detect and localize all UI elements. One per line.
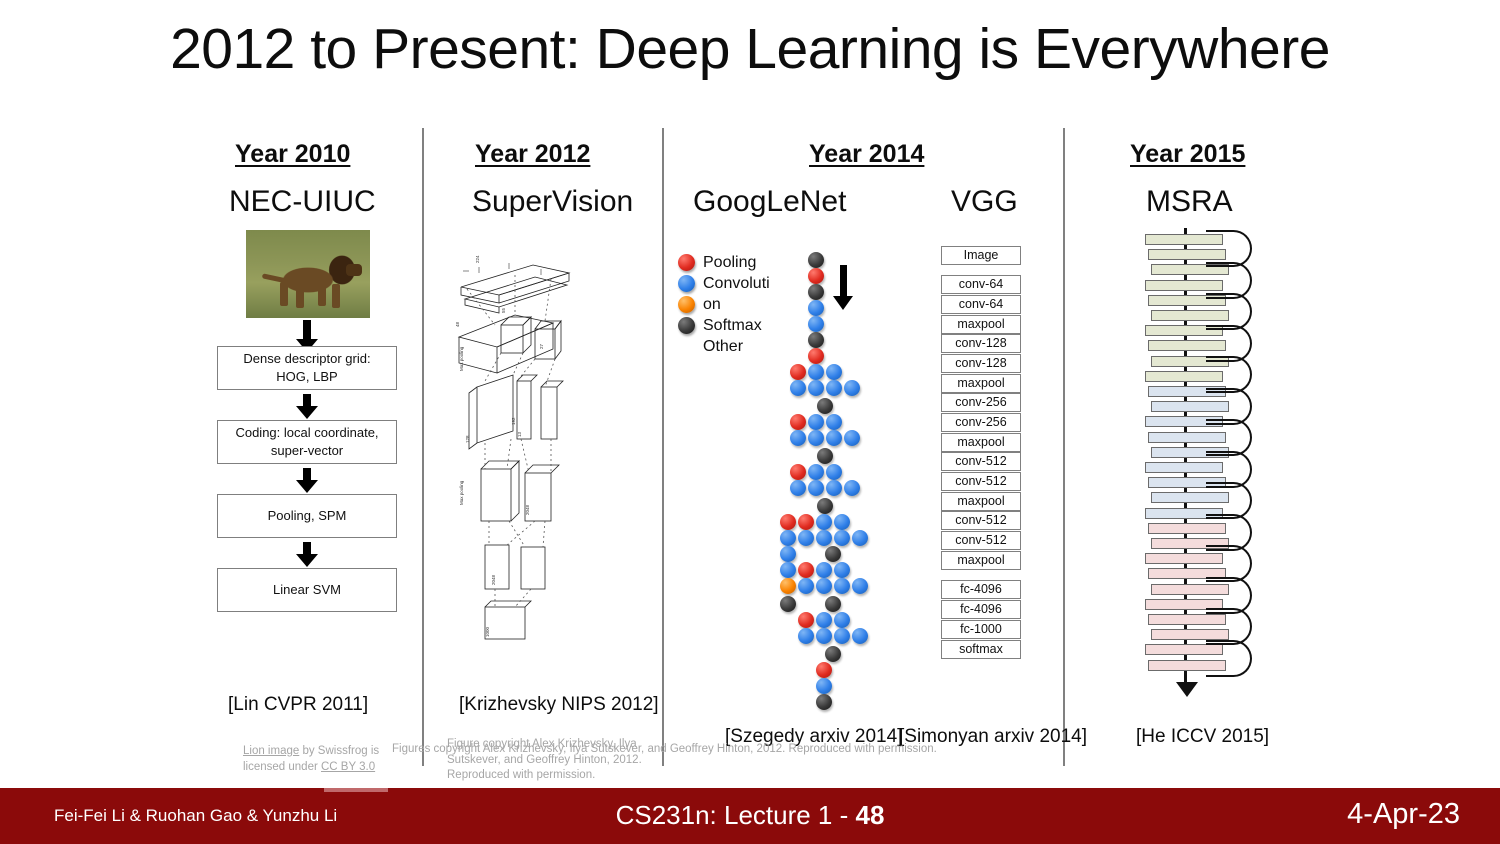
- googlenet-node: [808, 268, 824, 284]
- vgg-layer-box: conv-512: [941, 452, 1021, 471]
- googlenet-node: [780, 546, 796, 562]
- page-title: 2012 to Present: Deep Learning is Everyw…: [0, 16, 1500, 82]
- googlenet-node: [852, 628, 868, 644]
- vgg-layer-box: conv-128: [941, 334, 1021, 353]
- vgg-layer-box: maxpool: [941, 374, 1021, 393]
- googlenet-node: [826, 380, 842, 396]
- googlenet-node: [826, 430, 842, 446]
- column-network-name: GoogLeNet: [693, 185, 846, 219]
- googlenet-node: [780, 514, 796, 530]
- googlenet-node: [816, 562, 832, 578]
- googlenet-node: [808, 364, 824, 380]
- lion-image-credit-link[interactable]: Lion image: [243, 745, 299, 757]
- lion-photograph: [246, 230, 370, 318]
- googlenet-node: [808, 380, 824, 396]
- pipeline-box: Dense descriptor grid: HOG, LBP: [217, 346, 397, 390]
- flow-arrow: [303, 468, 311, 481]
- column-network-name: SuperVision: [472, 185, 633, 219]
- footer-lecture-label: CS231n: Lecture 1 -: [616, 800, 856, 830]
- svg-text:Max pooling: Max pooling: [459, 346, 464, 371]
- flow-arrow: [303, 320, 311, 340]
- vgg-layer-box: maxpool: [941, 492, 1021, 511]
- googlenet-node: [844, 480, 860, 496]
- slide-root: 2012 to Present: Deep Learning is Everyw…: [0, 0, 1500, 844]
- googlenet-node: [808, 332, 824, 348]
- googlenet-node: [816, 578, 832, 594]
- googlenet-node: [834, 514, 850, 530]
- vgg-layer-label: softmax: [959, 642, 1003, 656]
- vgg-layer-label: maxpool: [957, 376, 1004, 390]
- googlenet-node: [780, 596, 796, 612]
- vgg-layer-label: fc-1000: [960, 622, 1002, 636]
- googlenet-node: [798, 628, 814, 644]
- vgg-layer-box: fc-4096: [941, 600, 1021, 619]
- vgg-layer-box: conv-256: [941, 393, 1021, 412]
- legend-color-swatch-softmax: [678, 296, 695, 313]
- googlenet-node: [817, 498, 833, 514]
- vgg-layer-label: conv-512: [955, 454, 1006, 468]
- vgg-layer-label: conv-64: [959, 277, 1003, 291]
- pipeline-box: Coding: local coordinate, super-vector: [217, 420, 397, 464]
- googlenet-node: [808, 480, 824, 496]
- googlenet-node: [817, 448, 833, 464]
- footer-date: 4-Apr-23: [1347, 798, 1460, 831]
- vgg-layer-label: conv-512: [955, 513, 1006, 527]
- footer-page-number: 48: [856, 800, 885, 830]
- figures-copyright-block: Figure copyright Alex Krizhevsky, Ilya S…: [447, 737, 647, 784]
- svg-text:224: 224: [475, 255, 480, 263]
- googlenet-node: [808, 348, 824, 364]
- googlenet-node: [826, 364, 842, 380]
- vgg-layer-box: conv-512: [941, 511, 1021, 530]
- vgg-layer-label: conv-256: [955, 395, 1006, 409]
- googlenet-node: [852, 578, 868, 594]
- googlenet-node: [826, 480, 842, 496]
- column-network-name: VGG: [951, 185, 1018, 219]
- pipeline-box-label: Coding: local coordinate, super-vector: [235, 424, 378, 459]
- svg-text:55: 55: [501, 307, 506, 313]
- vgg-layer-label: conv-512: [955, 533, 1006, 547]
- legend-color-swatch-convolution: [678, 275, 695, 292]
- svg-text:2048: 2048: [491, 574, 496, 585]
- vgg-layer-box: fc-1000: [941, 620, 1021, 639]
- svg-text:1000: 1000: [485, 626, 490, 637]
- vgg-layer-label: conv-128: [955, 356, 1006, 370]
- googlenet-node: [834, 612, 850, 628]
- legend-item-label: Other: [703, 336, 743, 357]
- googlenet-node: [808, 430, 824, 446]
- googlenet-node: [825, 596, 841, 612]
- googlenet-node: [816, 694, 832, 710]
- googlenet-node: [790, 414, 806, 430]
- vgg-layer-label: conv-128: [955, 336, 1006, 350]
- legend-item-label: Convoluti: [703, 273, 770, 294]
- vgg-layer-label: conv-64: [959, 297, 1003, 311]
- legend-color-swatch-pooling: [678, 254, 695, 271]
- googlenet-node: [826, 464, 842, 480]
- vgg-layer-box: conv-64: [941, 295, 1021, 314]
- column-divider-1: [422, 128, 424, 766]
- googlenet-node-diagram: [780, 252, 890, 712]
- legend-item-label: on: [703, 294, 721, 315]
- vgg-layer-label: fc-4096: [960, 582, 1002, 596]
- googlenet-node: [790, 364, 806, 380]
- googlenet-node: [790, 464, 806, 480]
- vgg-layer-box: conv-64: [941, 275, 1021, 294]
- lion-image-credit: Lion image by Swissfrog is licensed unde…: [243, 744, 393, 775]
- svg-text:128: 128: [465, 435, 470, 443]
- column-divider-3: [1063, 128, 1065, 766]
- citation: [Lin CVPR 2011]: [228, 694, 368, 716]
- googlenet-node: [790, 480, 806, 496]
- googlenet-node: [808, 284, 824, 300]
- googlenet-node: [844, 380, 860, 396]
- googlenet-node: [825, 646, 841, 662]
- googlenet-node: [798, 578, 814, 594]
- googlenet-node: [834, 530, 850, 546]
- vgg-layer-box: conv-512: [941, 472, 1021, 491]
- svg-text:192: 192: [511, 417, 516, 425]
- googlenet-node: [816, 662, 832, 678]
- vgg-layer-box: maxpool: [941, 551, 1021, 570]
- resnet-skip-connection-diagram: [1120, 228, 1300, 698]
- googlenet-node: [808, 252, 824, 268]
- footer-lecture-info: CS231n: Lecture 1 - 48: [0, 800, 1500, 831]
- googlenet-node: [834, 628, 850, 644]
- vgg-layer-label: fc-4096: [960, 602, 1002, 616]
- googlenet-node: [826, 414, 842, 430]
- svg-text:48: 48: [455, 321, 460, 327]
- footer-accent-bar: [324, 788, 388, 792]
- flow-arrow: [303, 394, 311, 407]
- vgg-layer-label: maxpool: [957, 317, 1004, 331]
- vgg-layer-box: conv-256: [941, 413, 1021, 432]
- googlenet-node: [817, 398, 833, 414]
- googlenet-node: [816, 678, 832, 694]
- vgg-layer-box: softmax: [941, 640, 1021, 659]
- vgg-layer-box: maxpool: [941, 433, 1021, 452]
- vgg-layer-box: maxpool: [941, 315, 1021, 334]
- googlenet-node: [816, 612, 832, 628]
- vgg-layer-label: Image: [964, 248, 999, 262]
- googlenet-node: [852, 530, 868, 546]
- googlenet-node: [844, 430, 860, 446]
- column-divider-2: [662, 128, 664, 766]
- legend-item-label: Pooling: [703, 252, 756, 273]
- vgg-layer-label: maxpool: [957, 435, 1004, 449]
- pipeline-box: Linear SVM: [217, 568, 397, 612]
- googlenet-node: [798, 612, 814, 628]
- googlenet-node: [816, 530, 832, 546]
- pipeline-box-label: Dense descriptor grid: HOG, LBP: [243, 350, 370, 385]
- vgg-layer-label: conv-512: [955, 474, 1006, 488]
- googlenet-node: [808, 464, 824, 480]
- alexnet-architecture-diagram: 224 48 Max pooling 128 Max pooling 192 2…: [455, 255, 575, 665]
- legend-color-swatch-other: [678, 317, 695, 334]
- pipeline-box-label: Pooling, SPM: [268, 507, 347, 525]
- googlenet-node: [816, 628, 832, 644]
- license-link[interactable]: CC BY 3.0: [321, 761, 375, 773]
- svg-text:13: 13: [517, 431, 522, 437]
- googlenet-node: [798, 562, 814, 578]
- googlenet-node: [790, 380, 806, 396]
- vgg-layer-box: Image: [941, 246, 1021, 265]
- column-network-name: MSRA: [1146, 185, 1233, 219]
- legend-item-label: Softmax: [703, 315, 762, 336]
- slide-footer: Fei-Fei Li & Ruohan Gao & Yunzhu Li CS23…: [0, 788, 1500, 844]
- vgg-layer-box: conv-128: [941, 354, 1021, 373]
- column-year-label: Year 2010: [235, 140, 350, 169]
- googlenet-node: [825, 546, 841, 562]
- vgg-layer-label: maxpool: [957, 494, 1004, 508]
- pipeline-box: Pooling, SPM: [217, 494, 397, 538]
- column-year-label: Year 2012: [475, 140, 590, 169]
- googlenet-node: [798, 514, 814, 530]
- googlenet-node: [834, 578, 850, 594]
- vgg-layer-box: fc-4096: [941, 580, 1021, 599]
- googlenet-node: [780, 578, 796, 594]
- googlenet-node: [808, 300, 824, 316]
- citation: [Krizhevsky NIPS 2012]: [459, 694, 659, 716]
- pipeline-box-label: Linear SVM: [273, 581, 341, 599]
- flow-arrow: [303, 542, 311, 555]
- googlenet-node: [808, 414, 824, 430]
- googlenet-node: [790, 430, 806, 446]
- svg-text:2048: 2048: [525, 504, 530, 515]
- column-year-label: Year 2014: [809, 140, 924, 169]
- googlenet-node: [780, 562, 796, 578]
- vgg-layer-label: maxpool: [957, 553, 1004, 567]
- googlenet-node: [834, 562, 850, 578]
- svg-text:27: 27: [539, 343, 544, 349]
- vgg-layer-box: conv-512: [941, 531, 1021, 550]
- vgg-layer-label: conv-256: [955, 415, 1006, 429]
- resnet-skip-connection: [1206, 640, 1252, 677]
- googlenet-node: [808, 316, 824, 332]
- column-year-label: Year 2015: [1130, 140, 1245, 169]
- svg-text:Max pooling: Max pooling: [459, 480, 464, 505]
- googlenet-node: [816, 514, 832, 530]
- googlenet-node: [798, 530, 814, 546]
- googlenet-node: [780, 530, 796, 546]
- column-network-name: NEC-UIUC: [229, 185, 376, 219]
